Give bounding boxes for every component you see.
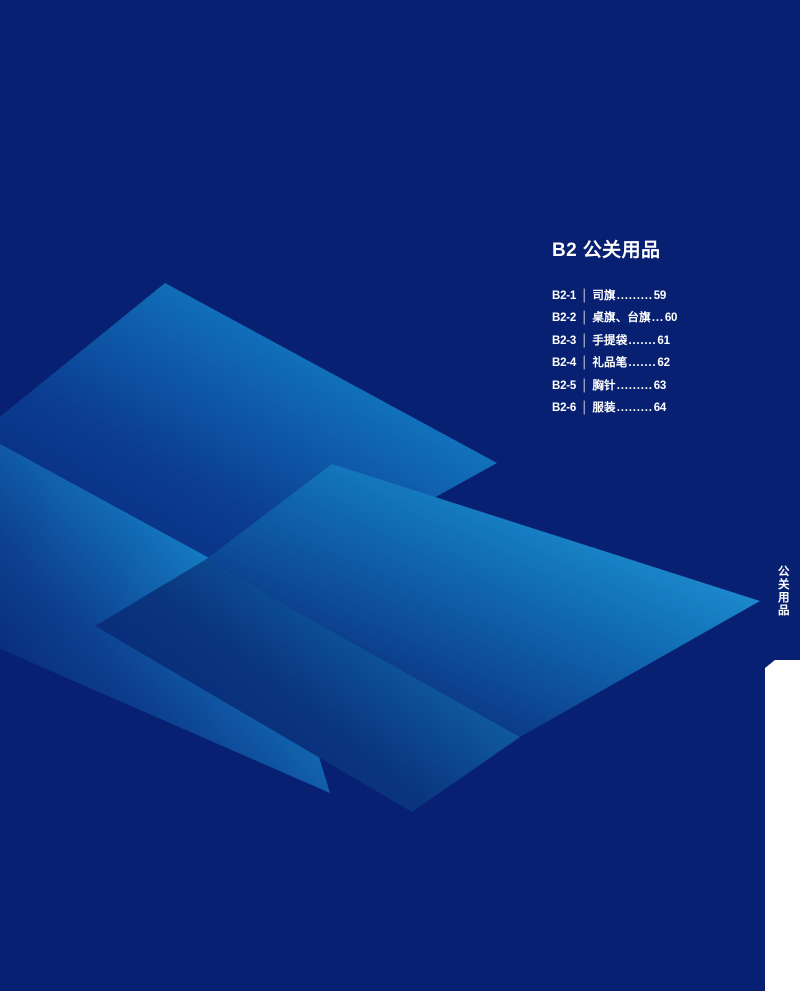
side-index-tab-label: 公关用品 [776,565,788,617]
toc-entry-b2-4[interactable]: B2-4 │ 礼品笔 ....... 62 [552,358,752,370]
toc-entry-code: B2-4 [552,358,576,370]
toc-page-number: 62 [657,358,669,370]
toc-entry-code: B2-3 [552,336,576,348]
toc-leader-dots: ......... [616,291,654,303]
toc-entry-code: B2-6 [552,403,576,415]
catalog-section-divider-page: B2 公关用品 B2-1 │ 司旗 ......... 59 B2-2 │ 桌旗… [0,0,800,991]
toc-entry-name: 胸针 [592,381,615,393]
chevron-artwork [0,0,800,991]
toc-entry-name: 手提袋 [592,336,627,348]
side-index-tab[interactable]: 公关用品 [764,0,800,663]
toc-entry-code: B2-1 [552,291,576,303]
toc-entry-name: 桌旗、台旗 [592,313,651,325]
chevron-lower [95,464,760,812]
toc-separator-icon: │ [576,358,592,370]
toc-separator-icon: │ [576,336,592,348]
toc-entry-b2-3[interactable]: B2-3 │ 手提袋 ....... 61 [552,336,752,348]
page-title: B2 公关用品 [552,241,752,262]
toc-entry-name: 礼品笔 [592,358,627,370]
toc-separator-icon: │ [576,381,592,393]
toc-entry-name: 服装 [592,403,615,415]
toc-leader-dots: ......... [616,381,654,393]
toc-entry-name: 司旗 [592,291,615,303]
toc-leader-dots: ......... [616,403,654,415]
toc-entry-code: B2-2 [552,313,576,325]
toc-page-number: 60 [665,313,677,325]
toc-separator-icon: │ [576,291,592,303]
chevron-upper [0,283,497,793]
page-margin-white [765,660,800,991]
toc-entry-code: B2-5 [552,381,576,393]
toc-leader-dots: ... [651,313,665,325]
table-of-contents: B2-1 │ 司旗 ......... 59 B2-2 │ 桌旗、台旗 ... … [552,291,752,415]
toc-entry-b2-1[interactable]: B2-1 │ 司旗 ......... 59 [552,291,752,303]
toc-leader-dots: ....... [627,358,657,370]
toc-page-number: 59 [654,291,666,303]
toc-page-number: 63 [654,381,666,393]
toc-leader-dots: ....... [627,336,657,348]
toc-separator-icon: │ [576,313,592,325]
toc-entry-b2-5[interactable]: B2-5 │ 胸针 ......... 63 [552,381,752,393]
toc-separator-icon: │ [576,403,592,415]
toc-page-number: 64 [654,403,666,415]
section-content: B2 公关用品 B2-1 │ 司旗 ......... 59 B2-2 │ 桌旗… [552,241,752,426]
toc-page-number: 61 [657,336,669,348]
toc-entry-b2-2[interactable]: B2-2 │ 桌旗、台旗 ... 60 [552,313,752,325]
toc-entry-b2-6[interactable]: B2-6 │ 服装 ......... 64 [552,403,752,415]
